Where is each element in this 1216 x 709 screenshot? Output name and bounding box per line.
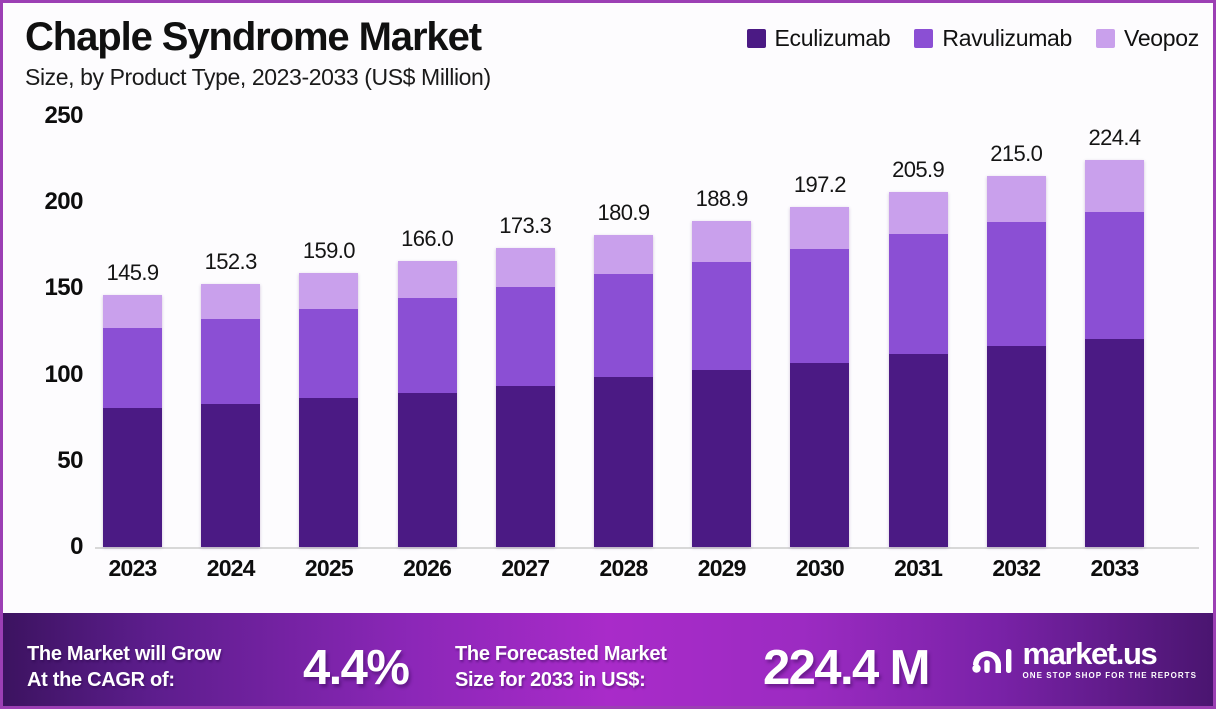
y-axis-tick-250: 250 xyxy=(44,102,83,130)
bar-total-label: 205.9 xyxy=(892,157,944,183)
infographic-root: Chaple Syndrome Market Size, by Product … xyxy=(0,0,1216,709)
bar-stack: 152.3 xyxy=(201,284,260,547)
footer-banner: The Market will Grow At the CAGR of: 4.4… xyxy=(3,613,1213,706)
bar-segment-eculizumab[interactable] xyxy=(790,363,849,547)
bar-segment-eculizumab[interactable] xyxy=(201,404,260,547)
legend-label: Ravulizumab xyxy=(942,25,1072,52)
bar-group-2026[interactable]: 166.0 xyxy=(398,261,457,547)
chart-legend: EculizumabRavulizumabVeopoz xyxy=(747,25,1200,52)
bar-segment-ravulizumab[interactable] xyxy=(790,249,849,363)
bar-total-label: 188.9 xyxy=(696,186,748,212)
bar-total-label: 180.9 xyxy=(597,200,649,226)
bar-segment-veopoz[interactable] xyxy=(496,248,555,287)
legend-swatch-icon-eculizumab xyxy=(747,29,766,48)
bar-segment-veopoz[interactable] xyxy=(790,207,849,249)
bar-total-label: 173.3 xyxy=(499,213,551,239)
bar-total-label: 166.0 xyxy=(401,226,453,252)
bar-segment-veopoz[interactable] xyxy=(398,261,457,299)
bar-group-2032[interactable]: 215.0 xyxy=(987,176,1046,547)
plot-area: 050100150200250 145.9152.3159.0166.0173.… xyxy=(3,103,1213,613)
bars-area: 145.9152.3159.0166.0173.3180.9188.9197.2… xyxy=(95,103,1205,547)
bar-segment-ravulizumab[interactable] xyxy=(496,287,555,385)
legend-swatch-icon-ravulizumab xyxy=(914,29,933,48)
x-axis-label-2033: 2033 xyxy=(1085,555,1144,582)
legend-item-ravulizumab[interactable]: Ravulizumab xyxy=(914,25,1072,52)
x-axis-label-2031: 2031 xyxy=(889,555,948,582)
x-axis-label-2027: 2027 xyxy=(496,555,555,582)
logo-tagline: ONE STOP SHOP FOR THE REPORTS xyxy=(1023,670,1197,681)
bar-stack: 180.9 xyxy=(594,235,653,547)
x-axis-label-2029: 2029 xyxy=(692,555,751,582)
logo-text-block: market.us ONE STOP SHOP FOR THE REPORTS xyxy=(1023,639,1197,681)
y-axis-tick-200: 200 xyxy=(44,188,83,216)
y-axis-tick-100: 100 xyxy=(44,361,83,389)
bar-segment-veopoz[interactable] xyxy=(1085,160,1144,212)
bar-stack: 166.0 xyxy=(398,261,457,547)
forecast-size-label: The Forecasted Market Size for 2033 in U… xyxy=(455,641,667,693)
market-us-monogram-icon xyxy=(970,643,1014,677)
bar-segment-ravulizumab[interactable] xyxy=(103,328,162,408)
y-axis-tick-0: 0 xyxy=(70,533,83,561)
y-axis-tick-150: 150 xyxy=(44,274,83,302)
x-axis-label-2032: 2032 xyxy=(987,555,1046,582)
bar-segment-eculizumab[interactable] xyxy=(398,393,457,547)
x-axis-line xyxy=(95,547,1199,549)
bar-segment-veopoz[interactable] xyxy=(987,176,1046,222)
cagr-label-line2: At the CAGR of: xyxy=(27,669,175,691)
bar-group-2024[interactable]: 152.3 xyxy=(201,284,260,547)
legend-label: Eculizumab xyxy=(775,25,891,52)
x-axis-label-2023: 2023 xyxy=(103,555,162,582)
cagr-label-line1: The Market will Grow xyxy=(27,643,221,665)
bar-group-2029[interactable]: 188.9 xyxy=(692,221,751,547)
bar-total-label: 197.2 xyxy=(794,172,846,198)
bar-total-label: 152.3 xyxy=(205,249,257,275)
bar-group-2031[interactable]: 205.9 xyxy=(889,192,948,547)
market-us-logo[interactable]: market.us ONE STOP SHOP FOR THE REPORTS xyxy=(970,639,1197,681)
y-axis: 050100150200250 xyxy=(3,103,95,563)
bar-stack: 205.9 xyxy=(889,192,948,547)
bar-segment-veopoz[interactable] xyxy=(299,273,358,309)
bar-segment-eculizumab[interactable] xyxy=(889,354,948,547)
x-axis-labels: 2023202420252026202720282029203020312032… xyxy=(95,555,1205,599)
title-block: Chaple Syndrome Market Size, by Product … xyxy=(25,13,491,92)
bar-stack: 159.0 xyxy=(299,273,358,547)
bar-segment-eculizumab[interactable] xyxy=(594,377,653,547)
bar-segment-ravulizumab[interactable] xyxy=(1085,212,1144,339)
forecast-size-label-line2: Size for 2033 in US$: xyxy=(455,669,645,691)
legend-swatch-icon-veopoz xyxy=(1096,29,1115,48)
bar-group-2030[interactable]: 197.2 xyxy=(790,207,849,547)
bar-total-label: 215.0 xyxy=(990,141,1042,167)
bar-segment-ravulizumab[interactable] xyxy=(299,309,358,399)
bar-segment-veopoz[interactable] xyxy=(889,192,948,234)
bar-stack: 173.3 xyxy=(496,248,555,547)
bar-group-2025[interactable]: 159.0 xyxy=(299,273,358,547)
bar-stack: 145.9 xyxy=(103,295,162,547)
bar-group-2023[interactable]: 145.9 xyxy=(103,295,162,547)
x-axis-label-2024: 2024 xyxy=(201,555,260,582)
bar-segment-eculizumab[interactable] xyxy=(496,386,555,547)
legend-item-eculizumab[interactable]: Eculizumab xyxy=(747,25,891,52)
bar-segment-ravulizumab[interactable] xyxy=(398,298,457,392)
bar-segment-veopoz[interactable] xyxy=(201,284,260,319)
bar-segment-ravulizumab[interactable] xyxy=(594,274,653,377)
x-axis-label-2025: 2025 xyxy=(299,555,358,582)
bar-stack: 188.9 xyxy=(692,221,751,547)
legend-item-veopoz[interactable]: Veopoz xyxy=(1096,25,1199,52)
chart-header: Chaple Syndrome Market Size, by Product … xyxy=(3,3,1213,103)
bar-total-label: 159.0 xyxy=(303,238,355,264)
bar-segment-eculizumab[interactable] xyxy=(1085,339,1144,547)
forecast-size-value: 224.4 M xyxy=(763,640,929,696)
page-title: Chaple Syndrome Market xyxy=(25,13,491,61)
bar-segment-veopoz[interactable] xyxy=(594,235,653,274)
bar-segment-eculizumab[interactable] xyxy=(299,398,358,547)
bar-stack: 224.4 xyxy=(1085,160,1144,547)
forecast-size-label-line1: The Forecasted Market xyxy=(455,643,667,665)
legend-label: Veopoz xyxy=(1124,25,1199,52)
bar-group-2027[interactable]: 173.3 xyxy=(496,248,555,547)
cagr-value: 4.4% xyxy=(303,640,408,696)
logo-wordmark: market.us xyxy=(1023,639,1197,669)
bar-group-2028[interactable]: 180.9 xyxy=(594,235,653,547)
bar-segment-ravulizumab[interactable] xyxy=(889,234,948,354)
bar-segment-eculizumab[interactable] xyxy=(103,408,162,547)
bar-segment-ravulizumab[interactable] xyxy=(692,262,751,370)
bar-total-label: 224.4 xyxy=(1088,125,1140,151)
bar-total-label: 145.9 xyxy=(106,260,158,286)
x-axis-label-2028: 2028 xyxy=(594,555,653,582)
x-axis-label-2026: 2026 xyxy=(398,555,457,582)
bar-stack: 215.0 xyxy=(987,176,1046,547)
bar-segment-ravulizumab[interactable] xyxy=(201,319,260,404)
bar-segment-ravulizumab[interactable] xyxy=(987,222,1046,346)
bar-segment-veopoz[interactable] xyxy=(103,295,162,328)
bar-segment-eculizumab[interactable] xyxy=(987,346,1046,547)
bar-stack: 197.2 xyxy=(790,207,849,547)
bar-segment-veopoz[interactable] xyxy=(692,221,751,262)
chart-subtitle: Size, by Product Type, 2023-2033 (US$ Mi… xyxy=(25,62,491,92)
bar-segment-eculizumab[interactable] xyxy=(692,370,751,547)
y-axis-tick-50: 50 xyxy=(57,447,83,475)
bar-group-2033[interactable]: 224.4 xyxy=(1085,160,1144,547)
cagr-label: The Market will Grow At the CAGR of: xyxy=(27,641,221,693)
x-axis-label-2030: 2030 xyxy=(790,555,849,582)
